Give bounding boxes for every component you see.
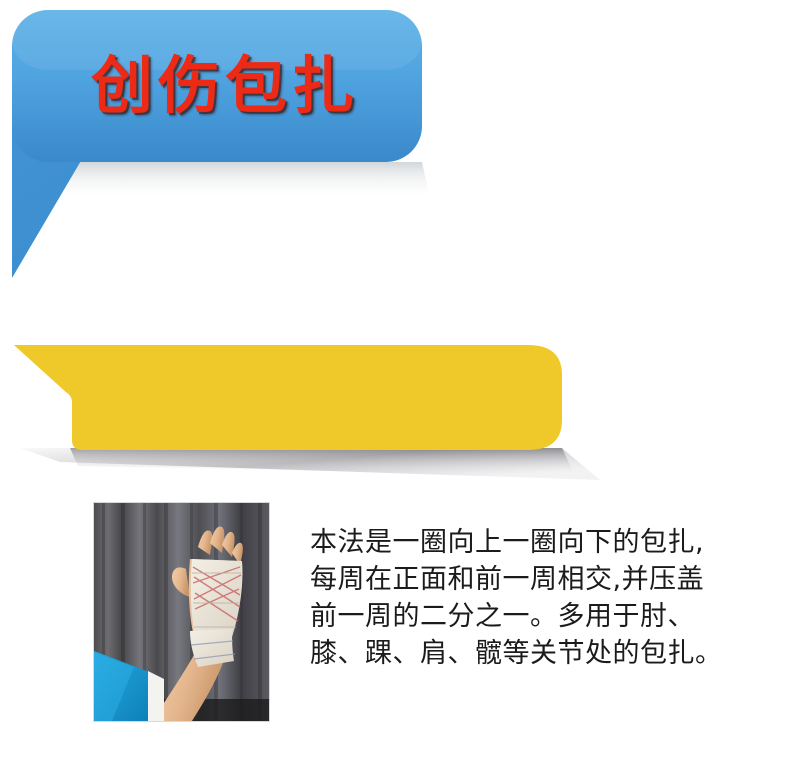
poster-canvas: 创伤包扎 2.八字形 xyxy=(0,0,800,735)
main-banner-shape xyxy=(0,0,440,300)
description-line-3: 前一周的二分之一。多用于肘、 xyxy=(310,598,788,635)
description-line-1: 本法是一圈向上一圈向下的包扎, xyxy=(310,524,788,561)
description-line-4: 膝、踝、肩、髋等关节处的包扎。 xyxy=(310,635,788,672)
bandage-photo xyxy=(94,503,269,721)
section-banner: 2.八字形绷带包扎法 xyxy=(0,330,620,490)
main-banner: 创伤包扎 xyxy=(0,0,440,300)
description-block: 本法是一圈向上一圈向下的包扎, 每周在正面和前一周相交,并压盖 前一周的二分之一… xyxy=(310,524,788,672)
section-banner-shape xyxy=(0,330,620,490)
bandage-photo-image xyxy=(94,503,269,721)
description-line-2: 每周在正面和前一周相交,并压盖 xyxy=(310,561,788,598)
